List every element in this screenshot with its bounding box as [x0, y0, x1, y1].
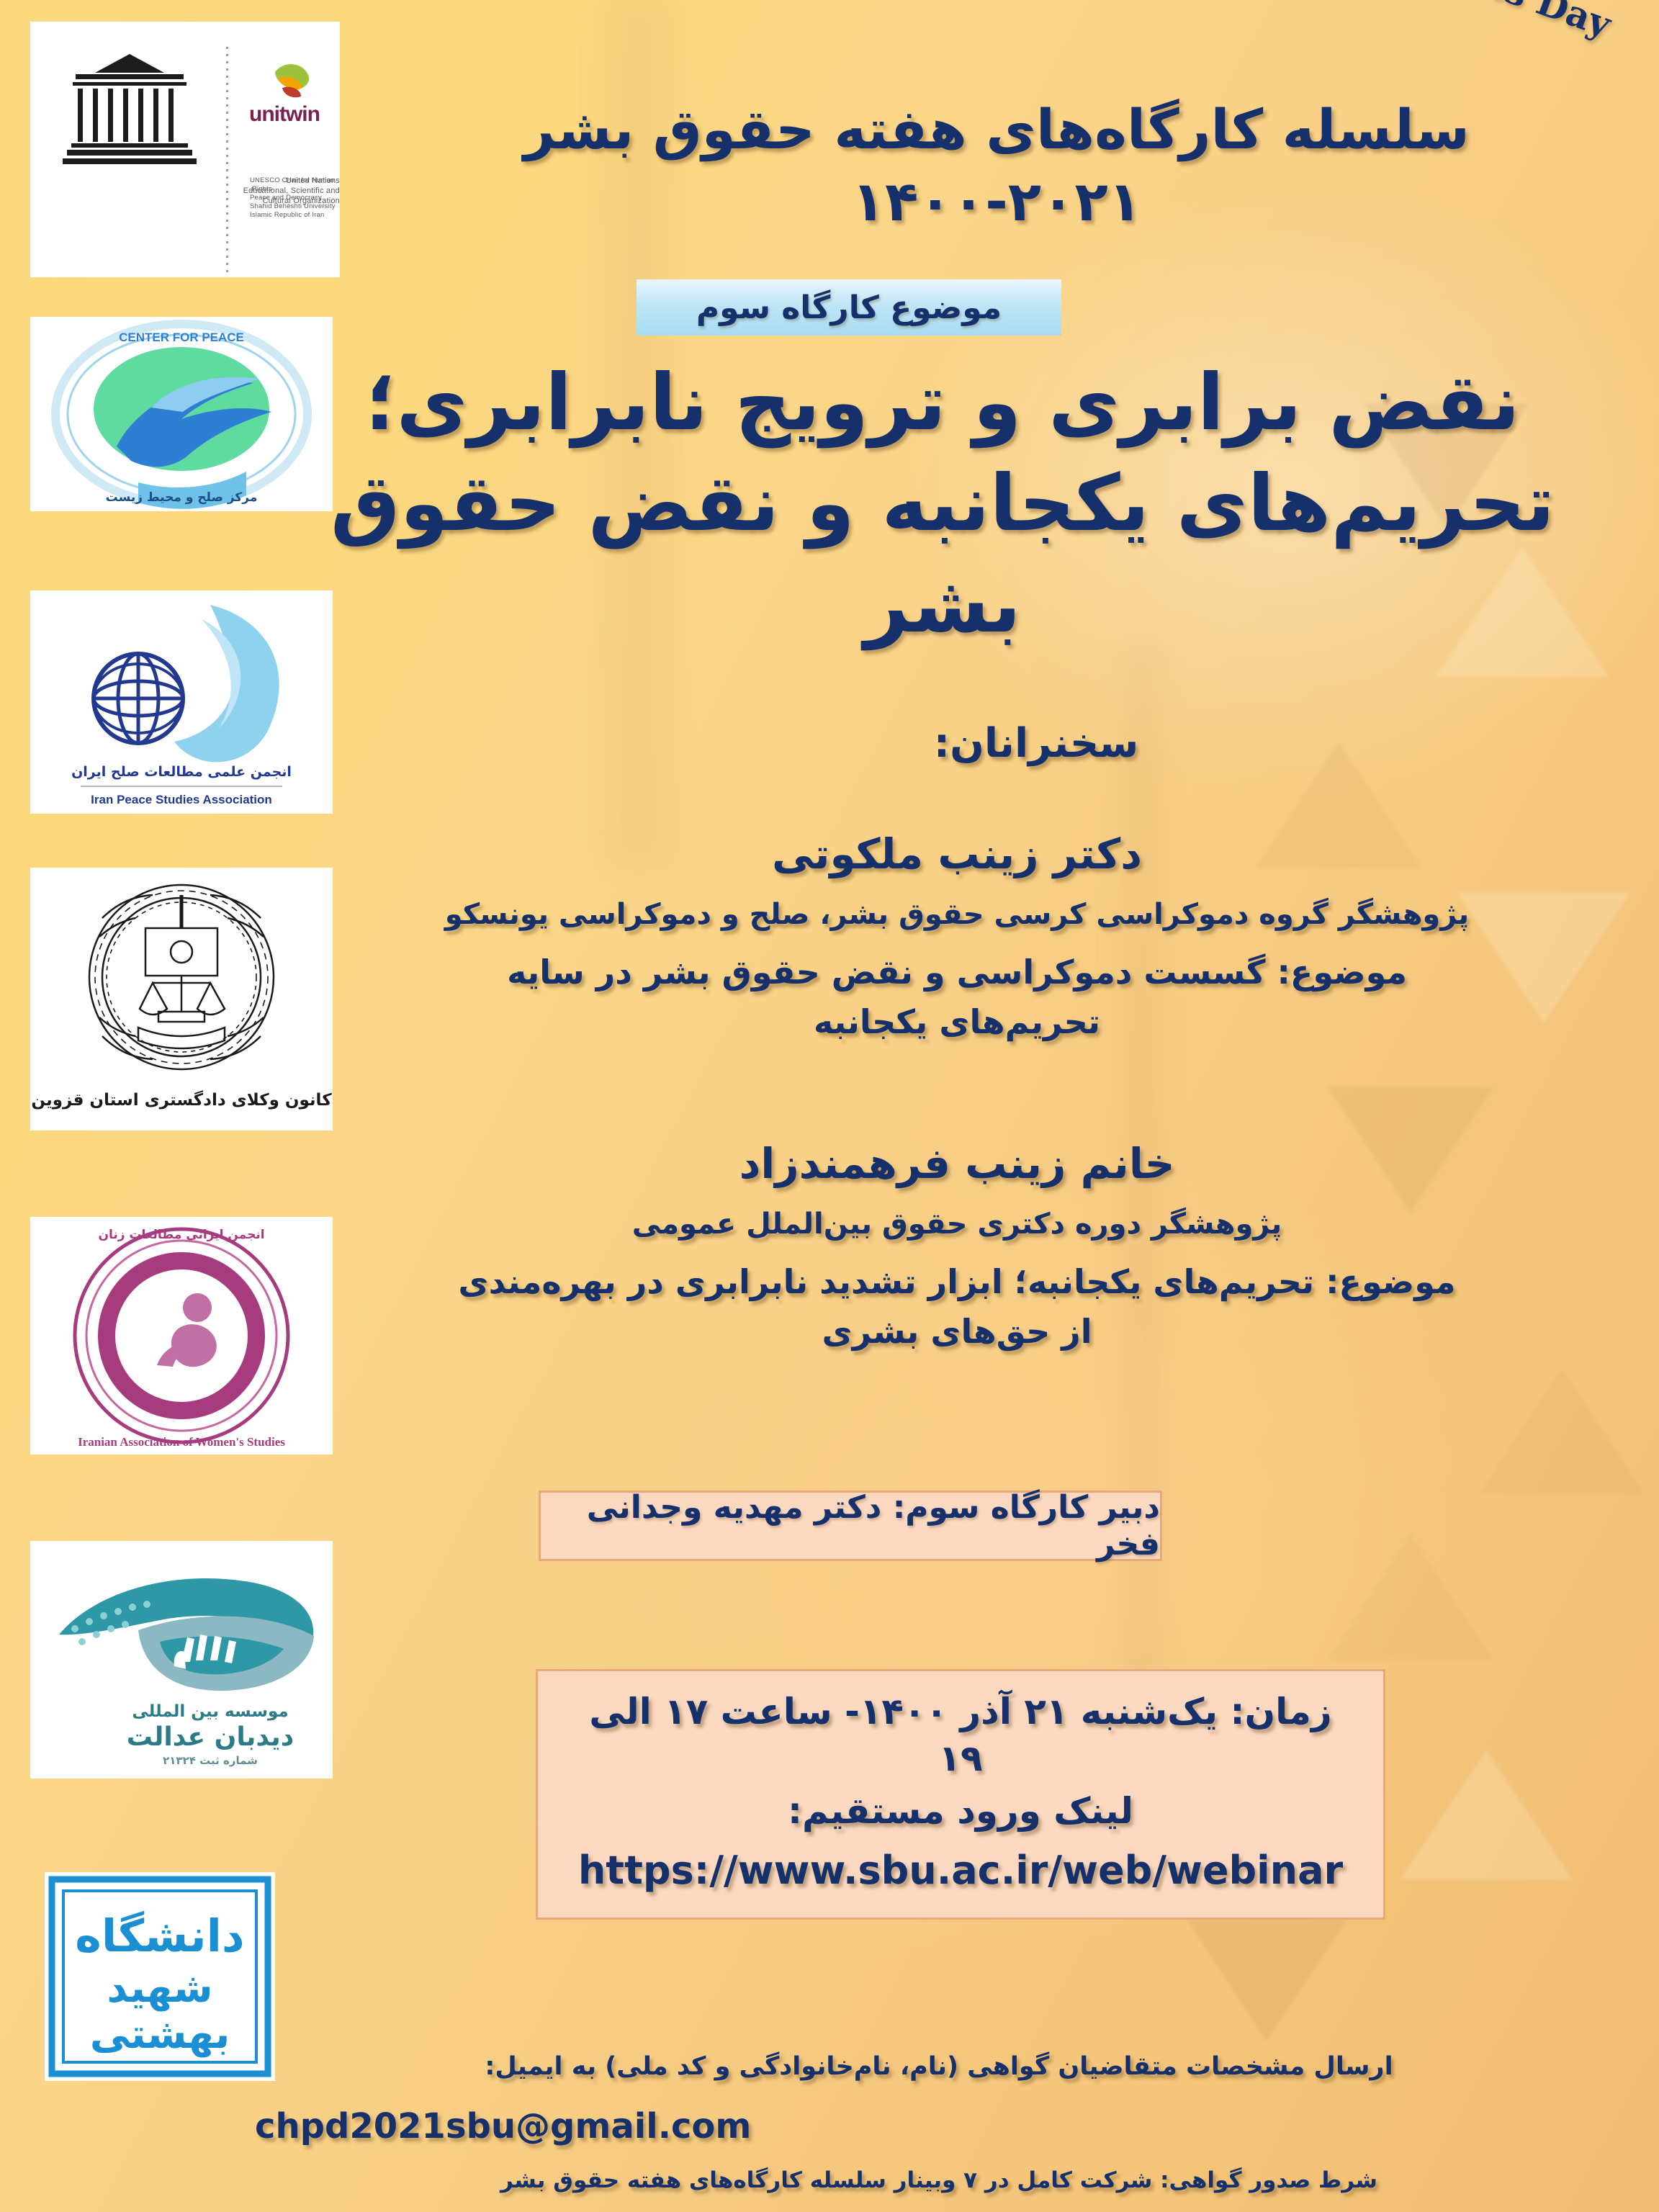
ihrd-line2: 2021: [967, 0, 1602, 83]
workshop-title-line2: تحریم‌های یکجانبه و نقض حقوق بشر: [269, 454, 1616, 656]
workshop-topic-badge-label: موضوع کارگاه سوم: [696, 289, 1002, 326]
speaker-2-topic-line2: از حق‌های بشری: [255, 1309, 1659, 1354]
series-title-line1: سلسله کارگاه‌های هفته حقوق بشر: [457, 94, 1537, 166]
speaker-block-1: دکتر زینب ملکوتی پژوهشگر گروه دموکراسی ک…: [255, 828, 1659, 1045]
logo-rail: United Nations Educational, Scientific a…: [0, 0, 216, 2212]
contact-email[interactable]: chpd2021sbu@gmail.com: [255, 2106, 730, 2146]
speaker-1-affiliation: پژوهشگر گروه دموکراسی کرسی حقوق بشر، صلح…: [255, 895, 1659, 934]
workshop-secretary-box: دبیر کارگاه سوم: دکتر مهدیه وجدانی فخر: [539, 1491, 1162, 1561]
certificate-condition-text: شرط صدور گواهی: شرکت کامل در ۷ وبینار سل…: [262, 2167, 1616, 2193]
event-link-label: لینک ورود مستقیم:: [567, 1788, 1354, 1835]
speaker-1-name: دکتر زینب ملکوتی: [255, 828, 1659, 881]
event-webinar-url[interactable]: https://www.sbu.ac.ir/web/webinar: [567, 1848, 1354, 1893]
workshop-title-line1: نقض برابری و ترویج نابرابری؛: [269, 353, 1616, 454]
speaker-block-2: خانم زینب فرهمندزاد پژوهشگر دوره دکتری ح…: [255, 1138, 1659, 1354]
workshop-title: نقض برابری و ترویج نابرابری؛ تحریم‌های ی…: [269, 353, 1616, 656]
workshop-topic-badge: موضوع کارگاه سوم: [637, 279, 1061, 336]
speakers-label: سخنرانان:: [413, 720, 1659, 767]
event-time: زمان: یک‌شنبه ۲۱ آذر ۱۴۰۰- ساعت ۱۷ الی ۱…: [567, 1689, 1354, 1782]
poster-canvas: United Nations Educational, Scientific a…: [0, 0, 1659, 2212]
speaker-1-topic-line1: موضوع: گسست دموکراسی و نقض حقوق بشر در س…: [255, 950, 1659, 995]
speaker-2-topic-line1: موضوع: تحریم‌های یکجانبه؛ ابزار تشدید نا…: [255, 1259, 1659, 1305]
series-title-line2: ۱۴۰۰-۲۰۲۱: [457, 166, 1537, 238]
event-info-box: زمان: یک‌شنبه ۲۱ آذر ۱۴۰۰- ساعت ۱۷ الی ۱…: [536, 1669, 1385, 1920]
speaker-2-affiliation: پژوهشگر دوره دکتری حقوق بین‌الملل عمومی: [255, 1205, 1659, 1244]
speaker-1-topic-line2: تحریم‌های یکجانبه: [255, 999, 1659, 1045]
poster-content: International Human Rights Day 2021 سلسل…: [216, 0, 1659, 2212]
workshop-secretary-text: دبیر کارگاه سوم: دکتر مهدیه وجدانی فخر: [541, 1489, 1160, 1563]
speaker-2-name: خانم زینب فرهمندزاد: [255, 1138, 1659, 1190]
series-title: سلسله کارگاه‌های هفته حقوق بشر ۱۴۰۰-۲۰۲۱: [457, 94, 1537, 238]
svg-text:بهشتی: بهشتی: [90, 2011, 230, 2058]
unesco-temple-icon: [60, 54, 199, 169]
certificate-request-text: ارسال مشخصات متقاضیان گواهی (نام، نام‌خا…: [262, 2052, 1616, 2081]
svg-text:شهید: شهید: [107, 1965, 212, 2012]
international-human-rights-day-title: International Human Rights Day 2021: [967, 0, 1616, 83]
